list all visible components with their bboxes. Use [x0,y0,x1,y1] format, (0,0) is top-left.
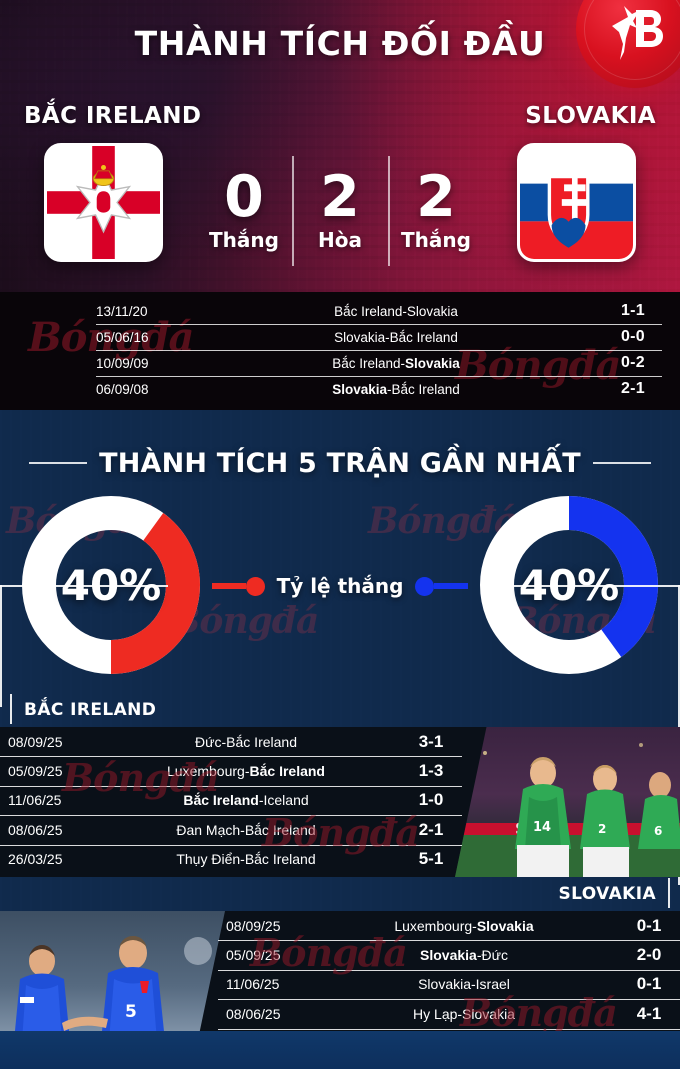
connector-left-horizontal [0,585,168,587]
table-row: 08/09/25Đức-Bắc Ireland3-1 [0,727,462,756]
match-teams: Luxembourg-Slovakia [310,918,618,934]
match-teams: Đức-Bắc Ireland [92,734,400,750]
recent-form-header: THÀNH TÍCH 5 TRẬN GẦN NHẤT [0,442,680,484]
stat-label: Thắng [401,228,471,252]
match-date: 10/09/09 [96,356,188,371]
match-score: 1-1 [604,302,662,320]
match-teams: Đan Mạch-Bắc Ireland [92,822,400,838]
connector-right-horizontal [512,585,680,587]
table-row: 05/09/25Slovakia-Đức2-0 [218,940,680,969]
stat-wins-left: 0 Thắng [196,152,292,270]
section-title: THÀNH TÍCH 5 TRẬN GẦN NHẤT [99,448,581,479]
match-date: 08/09/25 [218,918,310,934]
match-score: 0-1 [618,974,680,994]
table-row: 05/09/25Luxembourg-Bắc Ireland1-3 [0,756,462,785]
legend-line-right [434,583,468,589]
match-date: 06/09/08 [96,382,188,397]
stat-label: Thắng [209,228,279,252]
logo-glyph-icon [606,4,668,62]
table-row: 08/06/25Đan Mạch-Bắc Ireland2-1 [0,815,462,844]
northern-ireland-flag-icon [44,143,163,262]
stat-draws: 2 Hòa [292,152,388,270]
table-row: 10/09/09Bắc Ireland-Slovakia0-2 [0,350,680,376]
table-row: 13/11/20Bắc Ireland-Slovakia1-1 [0,298,680,324]
match-teams: Hy Lạp-Slovakia [310,1006,618,1022]
match-date: 11/06/25 [218,976,310,992]
legend-line-left [212,583,246,589]
bottom-strip [0,1031,680,1069]
match-date: 13/11/20 [96,304,188,319]
match-teams: Slovakia-Bắc Ireland [188,330,604,345]
table-row: 11/06/25Bắc Ireland-Iceland1-0 [0,786,462,815]
northern-ireland-players-photo: S 14 2 [455,727,680,877]
accent-bar-right [668,878,670,908]
svg-text:2: 2 [598,822,606,836]
match-date: 11/06/25 [0,792,92,808]
match-score: 3-1 [400,732,462,752]
stat-wins-right: 2 Thắng [388,152,484,270]
svg-text:14: 14 [533,820,551,835]
match-date: 08/06/25 [218,1006,310,1022]
table-row: 08/09/25Luxembourg-Slovakia0-1 [218,911,680,940]
match-score: 0-0 [604,328,662,346]
match-teams: Bắc Ireland-Slovakia [188,356,604,371]
match-score: 1-3 [400,761,462,781]
match-score: 2-1 [604,380,662,398]
match-score: 2-1 [400,820,462,840]
match-score: 5-1 [400,849,462,869]
svg-text:6: 6 [654,824,662,838]
h2h-rows-container: 13/11/20Bắc Ireland-Slovakia1-105/06/16S… [0,298,680,402]
head-to-head-hero: THÀNH TÍCH ĐỐI ĐẦU BẮC IRELAND SLOVAKIA [0,0,680,292]
match-teams: Luxembourg-Bắc Ireland [92,763,400,779]
head-to-head-match-list: Bóngđá Bóngđá 13/11/20Bắc Ireland-Slovak… [0,292,680,410]
win-rate-legend: Tỷ lệ thắng [204,566,476,606]
match-teams: Thụy Điển-Bắc Ireland [92,851,400,867]
form-team-right-name: SLOVAKIA [559,884,656,904]
match-score: 0-2 [604,354,662,372]
match-teams: Slovakia-Bắc Ireland [188,382,604,397]
stat-value: 0 [224,170,264,225]
table-row: 26/03/25Thụy Điển-Bắc Ireland5-1 [0,845,462,874]
table-row: 06/09/08Slovakia-Bắc Ireland2-1 [0,376,680,402]
h2h-score-summary: 0 Thắng 2 Hòa 2 Thắng [196,152,484,270]
team-name-right: SLOVAKIA [525,103,656,129]
divider-right [593,462,651,464]
match-date: 05/09/25 [218,947,310,963]
connector-left-vertical [0,585,2,707]
match-date: 05/09/25 [0,763,92,779]
match-score: 4-1 [618,1004,680,1024]
stat-label: Hòa [318,228,362,252]
stat-value: 2 [320,170,360,225]
match-date: 08/06/25 [0,822,92,838]
legend-label: Tỷ lệ thắng [265,574,416,598]
match-score: 1-0 [400,790,462,810]
legend-dot-right [415,577,434,596]
match-teams: Slovakia-Israel [310,976,618,992]
match-score: 0-1 [618,916,680,936]
match-teams: Bắc Ireland-Slovakia [188,304,604,319]
table-row: 05/06/16Slovakia-Bắc Ireland0-0 [0,324,680,350]
match-date: 08/09/25 [0,734,92,750]
form-team-left-name: BẮC IRELAND [24,700,156,720]
match-teams: Bắc Ireland-Iceland [92,792,400,808]
table-row: 08/06/25Hy Lạp-Slovakia4-1 [218,999,680,1028]
divider-left [29,462,87,464]
slovakia-flag-icon [517,143,636,262]
table-row: 11/06/25Slovakia-Israel0-1 [218,970,680,999]
legend-dot-left [246,577,265,596]
form-left-panel: S 14 2 [0,727,680,877]
accent-bar-left [10,694,12,724]
match-score: 2-0 [618,945,680,965]
match-date: 26/03/25 [0,851,92,867]
bongda-b-logo-icon [576,0,680,88]
team-name-left: BẮC IRELAND [24,103,201,129]
form-left-rows-container: 08/09/25Đức-Bắc Ireland3-105/09/25Luxemb… [0,727,462,874]
infographic-page: THÀNH TÍCH ĐỐI ĐẦU BẮC IRELAND SLOVAKIA [0,0,680,1069]
stat-value: 2 [416,170,456,225]
svg-text:5: 5 [125,1002,137,1022]
match-teams: Slovakia-Đức [310,947,618,963]
match-date: 05/06/16 [96,330,188,345]
